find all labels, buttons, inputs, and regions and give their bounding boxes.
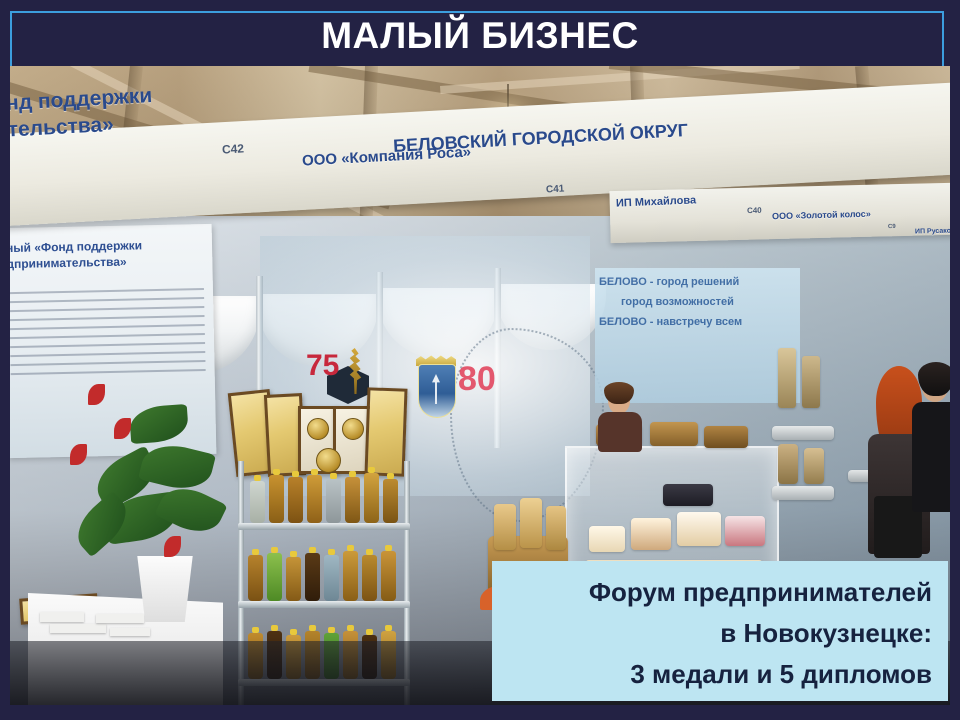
sign-vendor-rusakov: ИП Русаков [915,228,950,236]
bottle-item [345,477,360,523]
bottle-item [250,481,265,523]
cake-item [725,516,765,546]
poster-title: ный «Фонд поддержки дпринимательства» [10,236,206,272]
slogan-line-2: город возможностей [621,296,800,308]
cake-item [631,518,671,550]
bottle-item [343,551,358,601]
slogan-line-3: БЕЛОВО - навстречу всем [599,316,800,328]
bottle-item [267,553,282,601]
bottle-item [383,479,398,523]
bread-loaf [494,504,516,550]
person-hair [918,362,950,396]
bread-basket [704,426,748,448]
jar-item [778,444,798,484]
bottle-item [305,553,320,601]
bottle-item [364,473,379,523]
caption-line-3: 3 медали и 5 дипломов [508,654,932,695]
bottle-item [248,555,263,601]
brochure [40,612,84,622]
booth-number-c40: С40 [747,206,762,215]
bread-loaf [520,498,542,548]
rack-shelf [238,601,410,608]
jar-item [778,348,796,408]
page-title: МАЛЫЙ БИЗНЕС [0,14,960,58]
rack-shelf [238,523,410,530]
brochure [110,628,150,636]
cake-item [663,484,713,506]
bottle-item [286,557,301,601]
brochure [50,624,106,633]
bottle-item [326,479,341,523]
bread-loaf [546,506,566,550]
jar-item [804,448,824,484]
person-torso [912,402,950,512]
bottle-item [269,475,284,523]
person-torso [598,412,642,452]
anniversary-number-75: 75 [306,351,339,381]
caption-line-1: Форум предпринимателей [508,572,932,613]
poster-title-line-1: ный «Фонд поддержки [10,238,142,255]
cake-item [589,526,625,552]
brochure [96,614,144,623]
shelf-bar [772,426,834,440]
medal-icon [307,418,329,440]
bread-basket [650,422,698,446]
bottle-item [288,477,303,523]
medal-icon [342,418,364,440]
bottle-item [324,555,339,601]
jar-item [802,356,820,408]
bottle-item [362,555,377,601]
booth-number-c9: С9 [888,224,896,230]
shelf-bar [772,486,834,500]
booth-number-c42: С42 [222,141,245,156]
cake-item [677,512,721,546]
caption-line-2: в Новокузнецке: [508,613,932,654]
slide-root: ный «Фонд поддержки дпринимательства» 75… [0,0,960,720]
caption-box: Форум предпринимателей в Новокузнецке: 3… [492,561,948,701]
person-hair [604,382,634,404]
bottle-item [307,475,322,523]
poster-title-line-2: дпринимательства» [10,255,127,272]
anniversary-number-80: 80 [458,362,496,396]
booth-number-c41: С41 [546,184,565,196]
bottle-item [381,551,396,601]
slogan-line-1: БЕЛОВО - город решений [599,276,800,288]
poster-body-text [10,288,206,382]
city-coat-of-arms [418,364,456,418]
